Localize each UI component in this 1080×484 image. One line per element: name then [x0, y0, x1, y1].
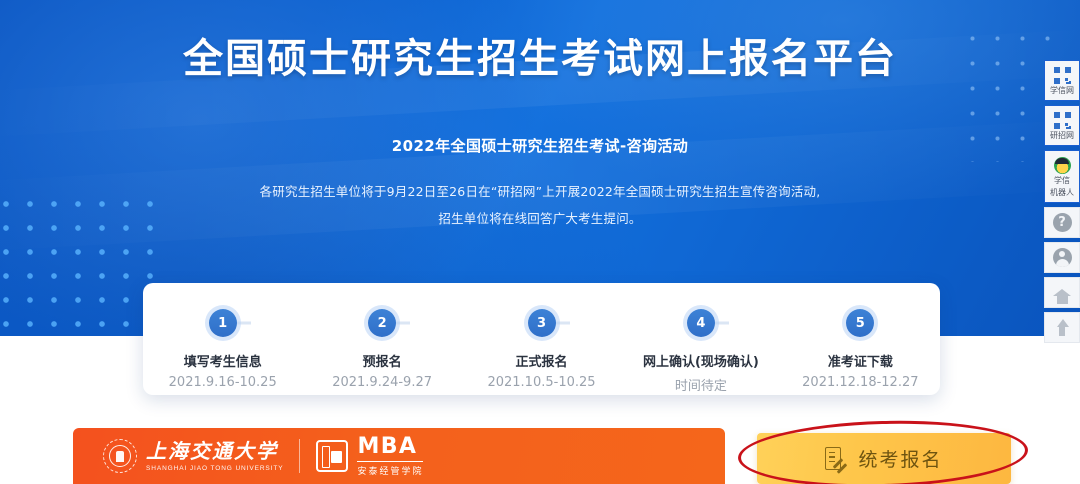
- banner-divider: [299, 439, 300, 473]
- sjtu-seal-icon: [103, 439, 137, 473]
- form-edit-icon: [825, 447, 847, 471]
- step-number-badge: 1: [209, 309, 237, 337]
- right-sidebar: 学信网 研招网 学信 机器人 ?: [1044, 60, 1080, 347]
- step-label: 预报名: [363, 351, 402, 370]
- qr-code-icon: [1053, 111, 1071, 129]
- sidebar-item-label: 学信网: [1050, 86, 1074, 96]
- register-button-label: 统考报名: [858, 445, 942, 472]
- step-number-badge: 5: [846, 309, 874, 337]
- university-name-en: SHANGHAI JIAO TONG UNIVERSITY: [146, 465, 283, 472]
- sjtu-logo: 上海交通大学 SHANGHAI JIAO TONG UNIVERSITY: [103, 439, 283, 473]
- step-label: 准考证下载: [828, 351, 893, 370]
- step-bubble-wrap: 2: [368, 305, 396, 341]
- announcement-subtitle: 2022年全国硕士研究生招生考试-咨询活动: [0, 135, 1080, 156]
- sidebar-item-account[interactable]: [1044, 242, 1080, 273]
- step-date: 2021.12.18-12.27: [802, 375, 918, 390]
- university-banner: 上海交通大学 SHANGHAI JIAO TONG UNIVERSITY MBA…: [73, 428, 725, 484]
- step-number-badge: 3: [528, 309, 556, 337]
- mba-logo: MBA 安泰经管学院: [316, 436, 423, 477]
- sidebar-item-xuexinwang[interactable]: 学信网: [1044, 60, 1080, 101]
- sjtu-name-block: 上海交通大学 SHANGHAI JIAO TONG UNIVERSITY: [146, 441, 283, 472]
- timeline-step[interactable]: 2 预报名 2021.9.24-9.27: [302, 283, 461, 395]
- program-name: MBA: [357, 436, 423, 458]
- step-label: 填写考生信息: [184, 351, 262, 370]
- step-date: 2021.10.5-10.25: [487, 375, 595, 390]
- register-button[interactable]: 统考报名: [757, 433, 1011, 484]
- back-to-top-icon: [1053, 318, 1072, 337]
- sidebar-item-home[interactable]: [1044, 277, 1080, 308]
- home-icon: [1053, 289, 1071, 296]
- step-number-badge: 4: [687, 309, 715, 337]
- page-title: 全国硕士研究生招生考试网上报名平台: [0, 26, 1080, 84]
- timeline-card: 1 填写考生信息 2021.9.16-10.25 2 预报名 2021.9.24…: [143, 283, 940, 395]
- page-root: 全国硕士研究生招生考试网上报名平台 2022年全国硕士研究生招生考试-咨询活动 …: [0, 0, 1080, 484]
- sidebar-item-label: 研招网: [1050, 131, 1074, 141]
- step-date: 2021.9.24-9.27: [332, 375, 432, 390]
- sidebar-item-help[interactable]: ?: [1044, 207, 1080, 238]
- timeline-step[interactable]: 3 正式报名 2021.10.5-10.25: [462, 283, 621, 395]
- step-bubble-wrap: 3: [528, 305, 556, 341]
- step-bubble-wrap: 1: [209, 305, 237, 341]
- step-bubble-wrap: 5: [846, 305, 874, 341]
- antai-mark-icon: [316, 440, 348, 472]
- step-bubble-wrap: 4: [687, 305, 715, 341]
- timeline-step[interactable]: 4 网上确认(现场确认) 时间待定: [621, 283, 780, 395]
- sidebar-item-back-to-top[interactable]: [1044, 312, 1080, 343]
- sidebar-item-yanzhaowang[interactable]: 研招网: [1044, 105, 1080, 146]
- step-label: 正式报名: [516, 351, 568, 370]
- step-number-badge: 2: [368, 309, 396, 337]
- mba-text-block: MBA 安泰经管学院: [357, 436, 423, 477]
- announcement-description: 各研究生招生单位将于9月22日至26日在“研招网”上开展2022年全国硕士研究生…: [0, 178, 1080, 232]
- step-date: 2021.9.16-10.25: [169, 375, 277, 390]
- announcement-line-1: 各研究生招生单位将于9月22日至26日在“研招网”上开展2022年全国硕士研究生…: [0, 178, 1080, 205]
- sidebar-item-label-line2: 机器人: [1050, 188, 1074, 198]
- timeline-steps: 1 填写考生信息 2021.9.16-10.25 2 预报名 2021.9.24…: [143, 283, 940, 395]
- timeline-step[interactable]: 5 准考证下载 2021.12.18-12.27: [781, 283, 940, 395]
- step-label: 网上确认(现场确认): [643, 351, 759, 370]
- step-date: 时间待定: [675, 375, 727, 394]
- qr-code-icon: [1053, 66, 1071, 84]
- sidebar-item-robot[interactable]: 学信 机器人: [1044, 150, 1080, 203]
- school-name: 安泰经管学院: [357, 461, 423, 477]
- announcement-line-2: 招生单位将在线回答广大考生提问。: [0, 205, 1080, 232]
- robot-avatar-icon: [1053, 156, 1071, 174]
- timeline-step[interactable]: 1 填写考生信息 2021.9.16-10.25: [143, 283, 302, 395]
- sidebar-item-label-line1: 学信: [1054, 176, 1070, 186]
- person-icon: [1053, 248, 1072, 267]
- university-name-cn: 上海交通大学: [146, 441, 283, 462]
- help-icon: ?: [1053, 213, 1072, 232]
